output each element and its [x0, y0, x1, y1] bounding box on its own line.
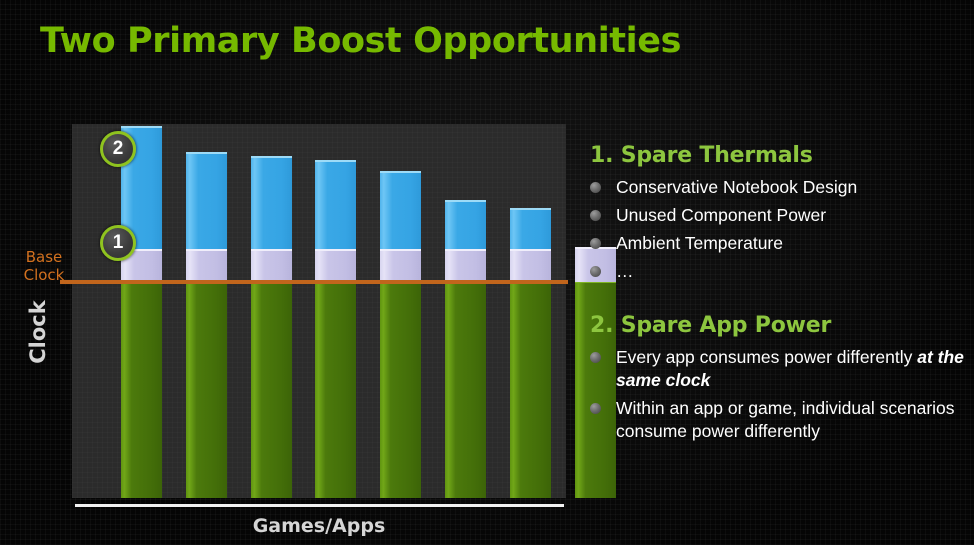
bar-segment-base-clock — [251, 282, 292, 498]
bar-column[interactable] — [380, 171, 421, 498]
bullet-item: Ambient Temperature — [590, 232, 965, 255]
chart-panel: Base Clock Clock 2 1 Games/Apps — [0, 110, 580, 545]
bar-segment-spare-thermals — [380, 171, 421, 249]
bar-segment-spare-app-power — [380, 249, 421, 282]
bar-column[interactable] — [186, 152, 227, 498]
bullet-item: … — [590, 260, 965, 283]
y-axis-label: Clock — [26, 292, 50, 372]
content-panel: 1. Spare ThermalsConservative Notebook D… — [590, 143, 965, 467]
callout-badge-2[interactable]: 2 — [100, 131, 136, 167]
section-heading: 1. Spare Thermals — [590, 143, 965, 168]
bar-segment-spare-thermals — [251, 156, 292, 249]
bar-segment-base-clock — [510, 282, 551, 498]
bar-column[interactable] — [121, 126, 162, 498]
bullet-text: Within an app or game, individual scenar… — [616, 397, 965, 443]
bar-segment-spare-app-power — [186, 249, 227, 282]
bar-column[interactable] — [510, 208, 551, 498]
bullet-text: Every app consumes power differently at … — [616, 346, 965, 392]
bar-segment-spare-app-power — [510, 249, 551, 282]
bullet-emphasis: at the same clock — [616, 347, 964, 390]
bar-segment-base-clock — [380, 282, 421, 498]
base-clock-reference-line — [60, 280, 568, 284]
x-axis-label: Games/Apps — [72, 515, 566, 537]
bar-segment-spare-thermals — [445, 200, 486, 248]
base-clock-label-line1: Base — [18, 248, 70, 266]
bar-segment-base-clock — [445, 282, 486, 498]
bar-column[interactable] — [251, 156, 292, 498]
bar-segment-base-clock — [121, 282, 162, 498]
section-heading: 2. Spare App Power — [590, 313, 965, 338]
base-clock-axis-label: Base Clock — [18, 248, 70, 284]
bullet-dot-icon — [590, 352, 601, 363]
bullet-text: … — [616, 260, 634, 283]
bullet-item: Conservative Notebook Design — [590, 176, 965, 199]
bar-column[interactable] — [445, 200, 486, 498]
bullet-dot-icon — [590, 238, 601, 249]
x-axis-line — [75, 504, 564, 507]
callout-badge-1[interactable]: 1 — [100, 225, 136, 261]
content-section: 2. Spare App PowerEvery app consumes pow… — [590, 313, 965, 443]
bar-segment-spare-app-power — [315, 249, 356, 282]
bullet-item: Unused Component Power — [590, 204, 965, 227]
bullet-item: Every app consumes power differently at … — [590, 346, 965, 392]
bar-segment-spare-thermals — [510, 208, 551, 249]
content-section: 1. Spare ThermalsConservative Notebook D… — [590, 143, 965, 283]
bullet-dot-icon — [590, 210, 601, 221]
bullet-item: Within an app or game, individual scenar… — [590, 397, 965, 443]
bullet-dot-icon — [590, 403, 601, 414]
bar-column[interactable] — [315, 159, 356, 498]
bullet-text: Conservative Notebook Design — [616, 176, 857, 199]
plot-area: 2 1 — [72, 124, 566, 498]
bar-segment-spare-thermals — [315, 160, 356, 249]
bar-segment-base-clock — [315, 282, 356, 498]
bullet-dot-icon — [590, 182, 601, 193]
bar-segment-base-clock — [186, 282, 227, 498]
bullet-dot-icon — [590, 266, 601, 277]
bar-segment-spare-thermals — [186, 152, 227, 249]
bar-segment-spare-app-power — [251, 249, 292, 282]
bullet-text: Unused Component Power — [616, 204, 826, 227]
page-title: Two Primary Boost Opportunities — [40, 21, 681, 61]
bar-segment-spare-app-power — [445, 249, 486, 282]
bullet-text: Ambient Temperature — [616, 232, 783, 255]
